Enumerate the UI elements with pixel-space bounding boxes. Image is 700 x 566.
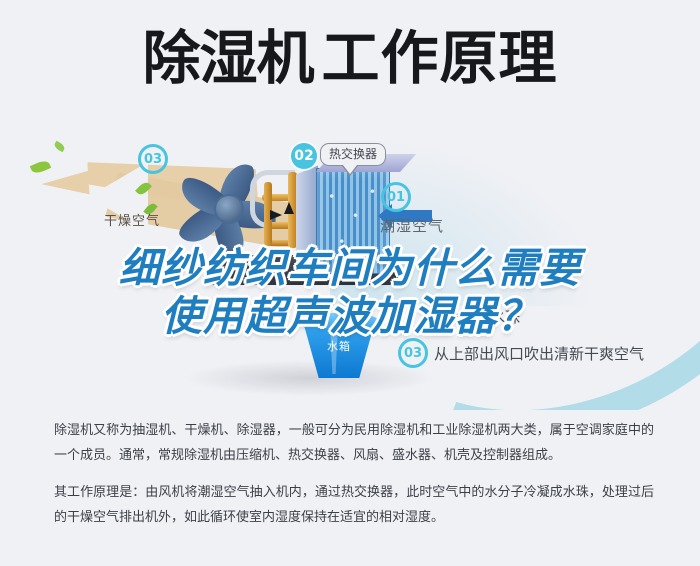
leaf-icon [53, 141, 66, 153]
step-badge-02: 02 [291, 143, 317, 169]
fan-hub [214, 194, 244, 224]
overlay-headline: 细纱纺织车间为什么需要 使用超声波加湿器？ [0, 248, 700, 337]
flow-arrow-left-icon [270, 210, 282, 220]
article-paragraph-1: 除湿机又称为抽湿机、干燥机、除湿器，一般可分为民用除湿机和工业除湿机两大类，属于… [54, 418, 654, 468]
page-title-part2: 工作原理 [322, 24, 558, 92]
step-badge-03: 03 [138, 144, 168, 174]
overlay-headline-line1: 细纱纺织车间为什么需要 [119, 244, 581, 292]
dry-air-label: 干燥空气 [104, 210, 160, 229]
page-root: 除湿机工作原理 [0, 0, 700, 566]
page-title: 除湿机工作原理 [0, 26, 700, 90]
leaf-icon [30, 159, 51, 176]
article-paragraph-2: 其工作原理是：由风机将潮湿空气抽入机内，通过热交换器，此时空气中的水分子冷凝成水… [54, 480, 654, 530]
heat-exchanger-callout: 热交换器 [320, 143, 386, 166]
flow-arrow-up-icon [284, 202, 294, 214]
water-tank-label: 水箱 [300, 338, 378, 354]
page-title-part1: 除湿机 [142, 24, 313, 92]
step-badge-01: 01 [381, 182, 411, 212]
step-note-03: 03 从上部出风口吹出清新干爽空气 [398, 338, 644, 368]
humid-air-label: 潮湿空气 [380, 215, 444, 236]
article-body: 除湿机又称为抽湿机、干燥机、除湿器，一般可分为民用除湿机和工业除湿机两大类，属于… [54, 418, 654, 542]
step-note-03-text: 从上部出风口吹出清新干爽空气 [434, 343, 644, 364]
step-note-03-badge: 03 [398, 338, 428, 368]
overlay-headline-line2: 使用超声波加湿器？ [0, 296, 700, 337]
